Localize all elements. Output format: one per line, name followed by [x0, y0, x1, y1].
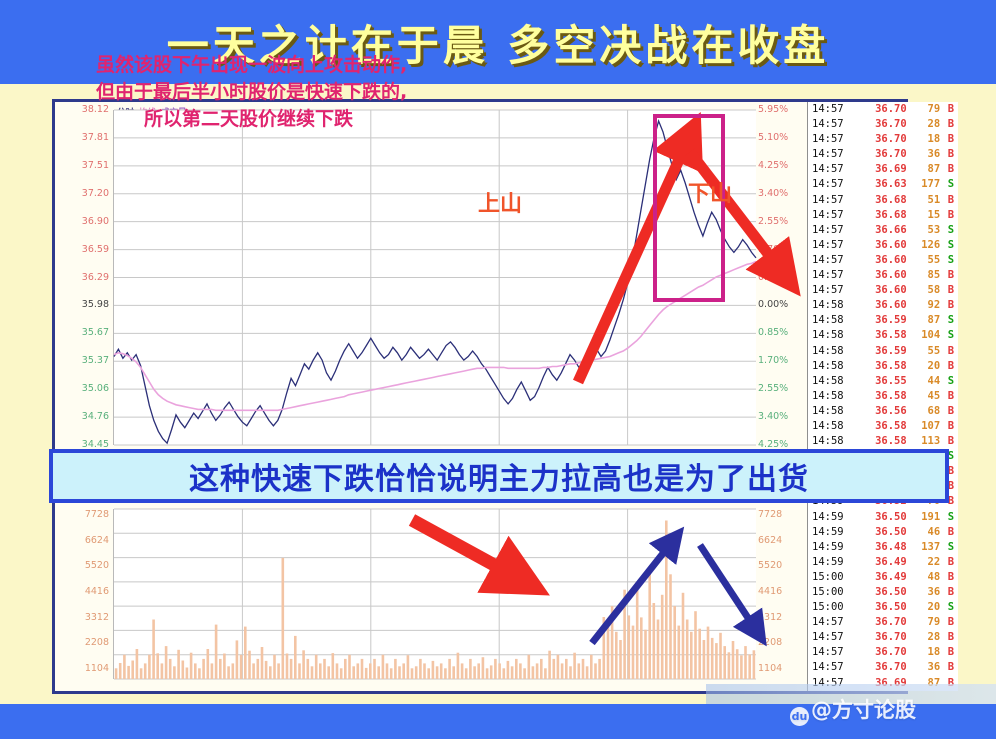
tape-time: 14:57 — [808, 660, 855, 675]
tape-volume: 36 — [907, 147, 941, 162]
tape-price: 36.50 — [855, 510, 906, 525]
tape-volume: 15 — [907, 208, 941, 223]
volume-bar — [319, 663, 322, 679]
tape-time: 14:57 — [808, 193, 855, 208]
volume-bar — [715, 643, 718, 679]
volume-bar — [131, 661, 134, 680]
tape-time: 14:57 — [808, 238, 855, 253]
volume-bar — [548, 651, 551, 679]
tape-time: 14:58 — [808, 389, 855, 404]
volume-bar — [448, 659, 451, 679]
tape-price: 36.70 — [855, 645, 906, 660]
volume-tick: 2208 — [758, 637, 782, 648]
tape-row[interactable]: 14:5736.7079B — [808, 102, 958, 117]
volume-bar — [402, 663, 405, 679]
tape-volume: 126 — [907, 238, 941, 253]
volume-bar — [573, 653, 576, 679]
volume-bar — [494, 659, 497, 679]
volume-bar — [432, 661, 435, 679]
volume-bar — [636, 586, 639, 679]
tape-time: 14:57 — [808, 117, 855, 132]
volume-bar — [640, 617, 643, 679]
tape-row[interactable]: 14:5836.6092B — [808, 298, 958, 313]
tape-volume: 28 — [907, 630, 941, 645]
tape-bs-flag: B — [940, 147, 958, 162]
tape-row[interactable]: 14:5736.6055S — [808, 253, 958, 268]
volume-bar — [569, 666, 572, 679]
tape-row[interactable]: 14:5736.6653S — [808, 223, 958, 238]
tape-bs-flag: B — [940, 208, 958, 223]
tape-row[interactable]: 14:5736.6987B — [808, 162, 958, 177]
volume-bar — [232, 663, 235, 679]
tape-row[interactable]: 14:5736.60126S — [808, 238, 958, 253]
volume-bar — [469, 659, 472, 679]
volume-bar — [373, 659, 376, 679]
volume-bar — [344, 659, 347, 679]
tape-bs-flag: B — [940, 585, 958, 600]
volume-bar — [365, 668, 368, 679]
volume-bar — [348, 655, 351, 679]
percent-tick: 3.40% — [758, 188, 788, 199]
volume-bar — [407, 655, 410, 679]
volume-bar — [503, 668, 506, 679]
tape-row[interactable]: 14:5736.63177S — [808, 177, 958, 192]
volume-bar — [452, 666, 455, 679]
tape-price: 36.58 — [855, 359, 906, 374]
volume-bar — [156, 653, 159, 679]
tape-volume: 68 — [907, 404, 941, 419]
tape-row[interactable]: 14:5836.5955B — [808, 344, 958, 359]
tape-time: 14:57 — [808, 132, 855, 147]
volume-bar — [336, 663, 339, 679]
tape-time: 14:57 — [808, 177, 855, 192]
tape-price: 36.58 — [855, 328, 906, 343]
volume-bar — [686, 620, 689, 680]
tape-time: 15:00 — [808, 585, 855, 600]
volume-bar — [665, 521, 668, 680]
volume-bar — [644, 630, 647, 679]
tape-volume: 51 — [907, 193, 941, 208]
watermark: du@方寸论股 — [790, 694, 916, 726]
tape-bs-flag: B — [940, 102, 958, 117]
volume-bar — [744, 646, 747, 679]
volume-panel — [113, 509, 756, 679]
volume-bar — [186, 668, 189, 680]
tape-bs-flag: B — [940, 615, 958, 630]
tape-volume: 55 — [907, 253, 941, 268]
tape-row[interactable]: 14:5736.6815B — [808, 208, 958, 223]
tape-bs-flag: B — [940, 162, 958, 177]
volume-bar — [207, 649, 210, 679]
tape-time: 14:59 — [808, 510, 855, 525]
tape-row[interactable]: 14:5836.5845B — [808, 389, 958, 404]
annotation-text: 虽然该股下午出现一波向上攻击动作, 但由于最后半小时股价是快速下跌的, 所以第二… — [96, 52, 576, 133]
tape-time: 14:57 — [808, 630, 855, 645]
tape-row[interactable]: 14:5736.6058B — [808, 283, 958, 298]
tape-row[interactable]: 14:5736.7028B — [808, 630, 958, 645]
highlight-banner: 这种快速下跌恰恰说明主力拉高也是为了出货 — [49, 449, 949, 503]
tape-row[interactable]: 14:5736.7079B — [808, 615, 958, 630]
volume-bar — [623, 590, 626, 679]
volume-bar — [152, 620, 155, 680]
volume-bar — [198, 668, 201, 679]
tape-time: 14:58 — [808, 359, 855, 374]
tape-bs-flag: B — [940, 404, 958, 419]
volume-bar — [498, 663, 501, 679]
volume-bar — [240, 655, 243, 679]
volume-bar — [398, 666, 401, 679]
tape-price: 36.55 — [855, 374, 906, 389]
label-down-mountain: 下山 — [688, 176, 732, 208]
tape-row[interactable]: 14:5836.58113B — [808, 434, 958, 449]
volume-bar — [177, 650, 180, 679]
volume-bar — [377, 666, 380, 679]
volume-bar — [415, 666, 418, 679]
tape-time: 14:59 — [808, 555, 855, 570]
tape-volume: 79 — [907, 615, 941, 630]
volume-tick: 5520 — [758, 560, 782, 571]
watermark-text: @方寸论股 — [811, 698, 916, 722]
volume-bar — [444, 668, 447, 679]
volume-bar — [294, 636, 297, 679]
volume-bar — [148, 655, 151, 679]
tape-bs-flag: S — [940, 540, 958, 555]
tape-time: 14:57 — [808, 645, 855, 660]
price-tick: 35.37 — [82, 355, 109, 366]
tape-volume: 20 — [907, 359, 941, 374]
tape-price: 36.48 — [855, 540, 906, 555]
tape-row[interactable]: 14:5836.5668B — [808, 404, 958, 419]
price-tick: 37.51 — [82, 160, 109, 171]
tape-time: 14:58 — [808, 328, 855, 343]
volume-bar — [544, 668, 547, 679]
tape-time: 15:00 — [808, 600, 855, 615]
volume-bar — [528, 655, 531, 679]
volume-bar — [411, 668, 414, 679]
label-up-mountain: 上山 — [478, 186, 522, 218]
tape-bs-flag: S — [940, 510, 958, 525]
tape-time: 14:58 — [808, 404, 855, 419]
tape-price: 36.68 — [855, 193, 906, 208]
tape-bs-flag: S — [940, 328, 958, 343]
volume-tick: 7728 — [758, 509, 782, 520]
volume-bar — [386, 663, 389, 679]
volume-bar — [219, 659, 222, 679]
tape-price: 36.49 — [855, 555, 906, 570]
volume-bar — [236, 640, 239, 679]
tape-price: 36.70 — [855, 615, 906, 630]
tape-time: 14:57 — [808, 162, 855, 177]
volume-bar — [257, 659, 260, 679]
tape-bs-flag: B — [940, 419, 958, 434]
highlight-rectangle — [653, 114, 725, 302]
tape-time: 14:57 — [808, 223, 855, 238]
volume-bar — [269, 666, 272, 679]
tape-row[interactable]: 14:5836.5820B — [808, 359, 958, 374]
tape-volume: 104 — [907, 328, 941, 343]
percent-tick: 0.00% — [758, 299, 788, 310]
volume-bar — [628, 615, 631, 679]
percent-tick: 2.55% — [758, 383, 788, 394]
tape-bs-flag: S — [940, 253, 958, 268]
highlight-banner-text: 这种快速下跌恰恰说明主力拉高也是为了出货 — [189, 454, 809, 498]
tick-tape-panel[interactable]: 14:5736.7079B14:5736.7028B14:5736.7018B1… — [807, 102, 958, 691]
volume-bar — [419, 659, 422, 679]
tape-time: 14:58 — [808, 419, 855, 434]
volume-bar — [477, 663, 480, 679]
volume-bar — [748, 654, 751, 679]
volume-bar — [165, 646, 168, 679]
tape-row[interactable]: 15:0036.5020S — [808, 600, 958, 615]
volume-bar — [115, 668, 118, 679]
tape-bs-flag: B — [940, 645, 958, 660]
tape-price: 36.69 — [855, 162, 906, 177]
volume-bar — [119, 663, 122, 679]
volume-bar — [532, 666, 535, 679]
tape-time: 14:58 — [808, 298, 855, 313]
volume-bar-chart — [114, 509, 756, 679]
volume-bar — [394, 659, 397, 679]
volume-tick: 2208 — [85, 637, 109, 648]
volume-bar — [661, 595, 664, 679]
volume-bar — [553, 659, 556, 679]
volume-bar — [277, 663, 280, 679]
tape-time: 14:57 — [808, 615, 855, 630]
tape-bs-flag: B — [940, 132, 958, 147]
tape-price: 36.50 — [855, 525, 906, 540]
tape-price: 36.66 — [855, 223, 906, 238]
tape-bs-flag: B — [940, 283, 958, 298]
tape-bs-flag: B — [940, 298, 958, 313]
volume-bar — [323, 659, 326, 679]
volume-bar — [694, 611, 697, 679]
tape-volume: 113 — [907, 434, 941, 449]
tape-price: 36.50 — [855, 585, 906, 600]
tape-bs-flag: B — [940, 344, 958, 359]
volume-bar — [632, 626, 635, 679]
tape-volume: 92 — [907, 298, 941, 313]
tape-volume: 87 — [907, 313, 941, 328]
percent-tick: 3.40% — [758, 411, 788, 422]
volume-bar — [352, 666, 355, 679]
volume-bar — [465, 668, 468, 679]
price-axis-left: 38.1237.8137.5137.2036.9036.5936.2935.98… — [55, 102, 113, 691]
tape-volume: 20 — [907, 600, 941, 615]
tape-row[interactable]: 14:5836.5544S — [808, 374, 958, 389]
volume-bar — [202, 659, 205, 679]
volume-tick: 1104 — [758, 663, 782, 674]
volume-bar — [123, 655, 126, 679]
tape-row[interactable]: 14:5936.4922B — [808, 555, 958, 570]
volume-bar — [732, 641, 735, 679]
price-tick: 36.90 — [82, 216, 109, 227]
volume-tick: 3312 — [85, 612, 109, 623]
volume-bar — [227, 666, 230, 679]
tape-volume: 137 — [907, 540, 941, 555]
tape-volume: 36 — [907, 585, 941, 600]
volume-bar — [136, 649, 139, 679]
percent-tick: 5.10% — [758, 132, 788, 143]
price-tick: 37.81 — [82, 132, 109, 143]
volume-bar — [653, 603, 656, 679]
volume-bar — [286, 654, 289, 680]
percent-tick: 2.55% — [758, 216, 788, 227]
volume-bar — [728, 652, 731, 679]
volume-bar — [211, 663, 214, 679]
volume-bar — [723, 646, 726, 679]
volume-bar — [511, 666, 514, 679]
percent-tick: 4.25% — [758, 160, 788, 171]
tape-time: 14:59 — [808, 540, 855, 555]
tape-price: 36.60 — [855, 283, 906, 298]
volume-bar — [182, 661, 185, 680]
volume-bar — [740, 655, 743, 679]
tape-price: 36.70 — [855, 660, 906, 675]
tape-time: 14:58 — [808, 434, 855, 449]
volume-tick: 6624 — [85, 535, 109, 546]
tape-row[interactable]: 15:0036.4948B — [808, 570, 958, 585]
volume-bar — [490, 665, 493, 679]
tape-row[interactable]: 14:5836.5987S — [808, 313, 958, 328]
volume-bar — [682, 593, 685, 679]
volume-bar — [315, 655, 318, 679]
tape-volume: 36 — [907, 660, 941, 675]
tape-price: 36.63 — [855, 177, 906, 192]
volume-bar — [673, 606, 676, 679]
tape-price: 36.70 — [855, 102, 906, 117]
tape-price: 36.59 — [855, 313, 906, 328]
tape-bs-flag: B — [940, 660, 958, 675]
tape-volume: 45 — [907, 389, 941, 404]
tape-volume: 28 — [907, 117, 941, 132]
volume-bar — [615, 632, 618, 679]
volume-bar — [473, 666, 476, 679]
price-tick: 34.76 — [82, 411, 109, 422]
tape-volume: 22 — [907, 555, 941, 570]
tape-volume: 53 — [907, 223, 941, 238]
tape-price: 36.70 — [855, 117, 906, 132]
volume-bar — [578, 663, 581, 679]
tape-volume: 48 — [907, 570, 941, 585]
volume-bar — [357, 663, 360, 679]
volume-tick: 1104 — [85, 663, 109, 674]
tape-price: 36.60 — [855, 268, 906, 283]
tape-price: 36.56 — [855, 404, 906, 419]
tape-price: 36.58 — [855, 389, 906, 404]
volume-bar — [603, 617, 606, 679]
percent-tick: 0.85% — [758, 327, 788, 338]
tape-row[interactable]: 14:5936.48137S — [808, 540, 958, 555]
tape-bs-flag: S — [940, 223, 958, 238]
tape-row[interactable]: 14:5936.50191S — [808, 510, 958, 525]
tape-time: 14:57 — [808, 102, 855, 117]
tape-time: 14:58 — [808, 313, 855, 328]
volume-bar — [648, 570, 651, 679]
tape-volume: 44 — [907, 374, 941, 389]
volume-bar — [590, 655, 593, 679]
volume-bar — [523, 668, 526, 679]
volume-bar — [582, 659, 585, 679]
percent-tick: 0.85% — [758, 272, 788, 283]
volume-bar — [223, 654, 226, 680]
tape-row[interactable]: 14:5736.7018B — [808, 132, 958, 147]
tape-bs-flag: S — [940, 313, 958, 328]
volume-bar — [190, 653, 193, 679]
tape-price: 36.70 — [855, 630, 906, 645]
volume-bar — [519, 663, 522, 679]
tape-time: 14:57 — [808, 268, 855, 283]
tape-bs-flag: S — [940, 600, 958, 615]
price-tick: 36.59 — [82, 244, 109, 255]
volume-bar — [290, 659, 293, 679]
volume-bar — [244, 627, 247, 679]
slide-root: 一天之计在于晨 多空决战在收盘 分时均线成交量 38.1237.8137.513… — [0, 0, 996, 739]
volume-bar — [557, 655, 560, 679]
annotation-line-3: 所以第二天股价继续下跌 — [96, 106, 576, 133]
tape-price: 36.60 — [855, 298, 906, 313]
tape-row[interactable]: 14:5736.6851B — [808, 193, 958, 208]
tape-bs-flag: B — [940, 434, 958, 449]
tape-time: 15:00 — [808, 570, 855, 585]
volume-bar — [707, 627, 710, 679]
volume-bar — [423, 663, 426, 679]
tape-bs-flag: B — [940, 117, 958, 132]
tape-volume: 191 — [907, 510, 941, 525]
volume-bar — [307, 659, 310, 679]
volume-bar — [436, 666, 439, 679]
volume-bar — [565, 659, 568, 679]
volume-bar — [265, 661, 268, 679]
tape-row[interactable]: 14:5736.7036B — [808, 660, 958, 675]
tape-bs-flag: B — [940, 193, 958, 208]
tape-row[interactable]: 14:5736.7028B — [808, 117, 958, 132]
tape-price: 36.60 — [855, 238, 906, 253]
volume-bar — [594, 663, 597, 679]
tape-volume: 55 — [907, 344, 941, 359]
tape-row[interactable]: 14:5836.58107B — [808, 419, 958, 434]
volume-bar — [736, 649, 739, 679]
volume-tick: 5520 — [85, 560, 109, 571]
tape-price: 36.68 — [855, 208, 906, 223]
tape-row[interactable]: 14:5936.5046B — [808, 525, 958, 540]
tape-price: 36.58 — [855, 434, 906, 449]
tape-row[interactable]: 15:0036.5036B — [808, 585, 958, 600]
volume-bar — [719, 633, 722, 679]
volume-bar — [327, 666, 330, 679]
tape-time: 14:57 — [808, 147, 855, 162]
volume-bar — [690, 632, 693, 679]
price-tick: 35.98 — [82, 299, 109, 310]
tape-time: 14:58 — [808, 344, 855, 359]
tape-row[interactable]: 14:5736.6085B — [808, 268, 958, 283]
price-tick: 35.06 — [82, 383, 109, 394]
tape-row[interactable]: 14:5736.7036B — [808, 147, 958, 162]
volume-bar — [194, 663, 197, 679]
volume-tick: 3312 — [758, 612, 782, 623]
tape-bs-flag: B — [940, 525, 958, 540]
tape-row[interactable]: 14:5736.7018B — [808, 645, 958, 660]
tape-price: 36.49 — [855, 570, 906, 585]
tape-row[interactable]: 14:5836.58104S — [808, 328, 958, 343]
price-tick: 35.67 — [82, 327, 109, 338]
volume-bar — [507, 661, 510, 679]
volume-bar — [361, 659, 364, 679]
tape-volume: 46 — [907, 525, 941, 540]
volume-bar — [540, 659, 543, 679]
volume-bar — [711, 638, 714, 679]
volume-bar — [173, 666, 176, 679]
percent-axis-right: 5.95%5.10%4.25%3.40%2.55%1.70%0.85%0.00%… — [755, 102, 807, 691]
